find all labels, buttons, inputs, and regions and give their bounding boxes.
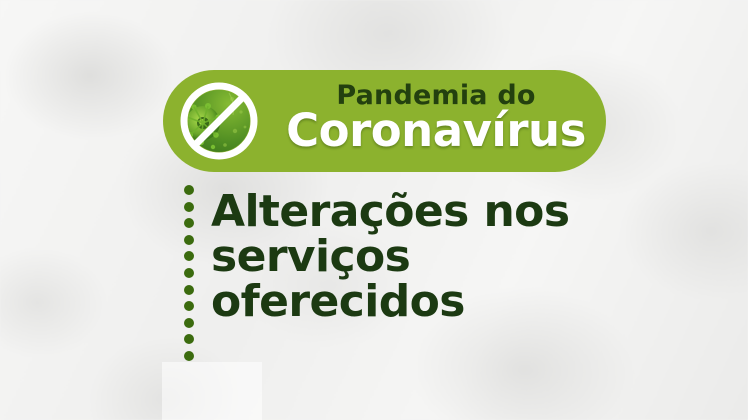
rule-dot (184, 185, 194, 195)
rule-dot (184, 301, 194, 311)
rule-dot (184, 318, 194, 328)
badge-text-block: Pandemia do Coronavírus (271, 76, 601, 166)
rule-dot (184, 351, 194, 361)
headline-line-1: Alterações nos (211, 190, 631, 235)
rule-dot (184, 202, 194, 212)
no-virus-icon (177, 79, 261, 163)
rule-dot (184, 268, 194, 278)
rule-dot (184, 285, 194, 295)
rule-dot (184, 218, 194, 228)
headline-line-2: serviços (211, 235, 631, 280)
headline: Alterações nosserviçosoferecidos (211, 190, 631, 325)
dotted-vertical-rule (183, 185, 194, 361)
rule-dot (184, 251, 194, 261)
rule-dot (184, 235, 194, 245)
coronavirus-badge: Pandemia do Coronavírus (163, 70, 606, 172)
headline-line-3: oferecidos (211, 280, 631, 325)
rule-dot (184, 334, 194, 344)
badge-title: Coronavírus (271, 108, 601, 153)
background-panel (162, 362, 262, 420)
slide-canvas: Pandemia do Coronavírus Alterações nosse… (0, 0, 748, 420)
